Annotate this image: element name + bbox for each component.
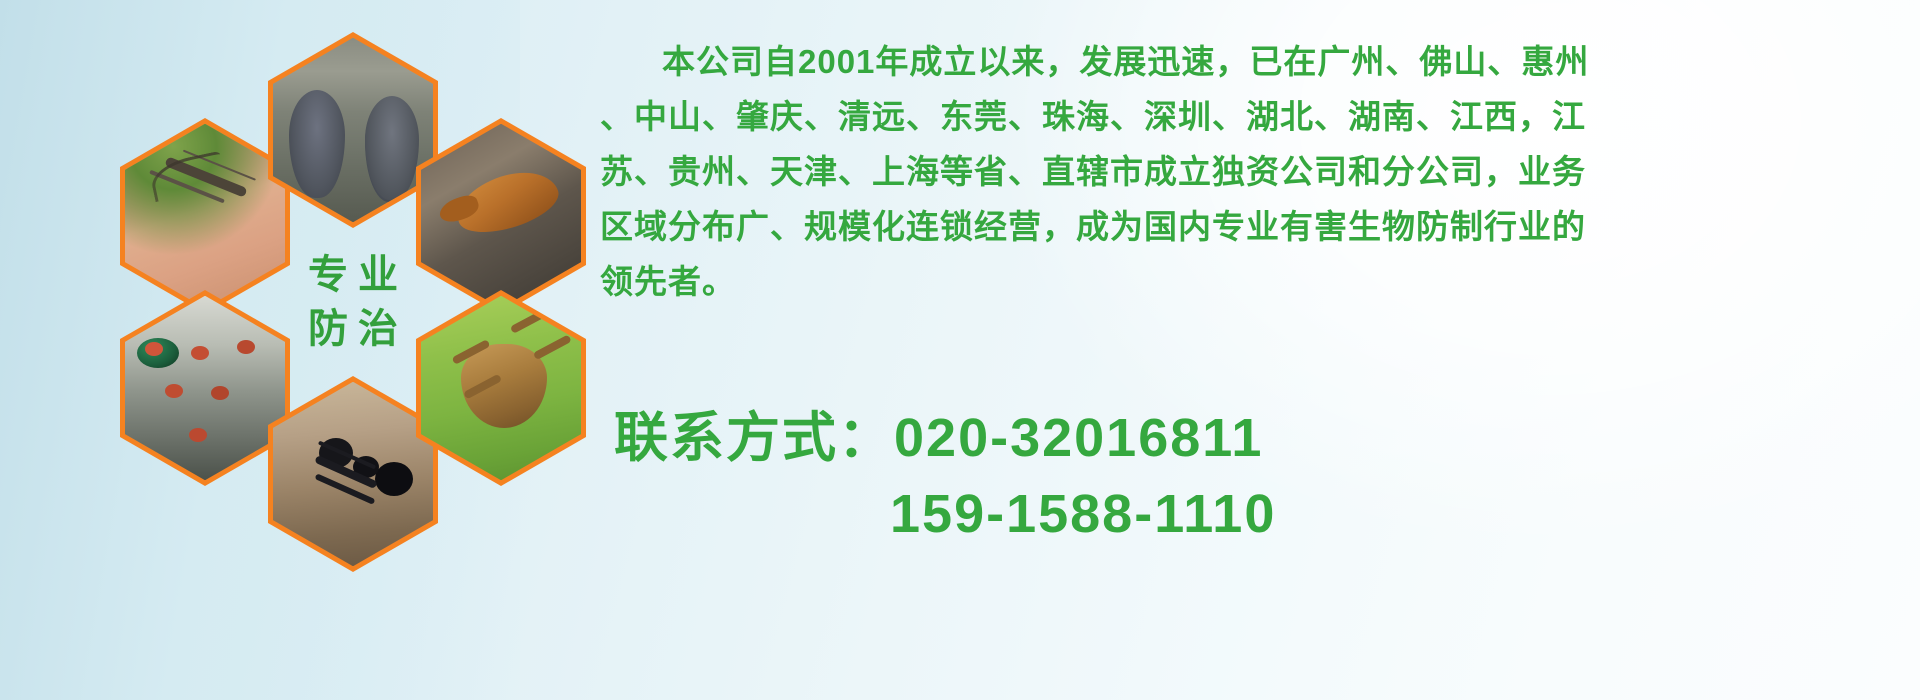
description-line-1: 本公司自2001年成立以来，发展迅速，已在广州、佛山、惠州 — [600, 34, 1900, 89]
hex-cell-stink-bug[interactable] — [416, 290, 586, 486]
hex-inner-mosquito — [125, 124, 285, 309]
honeycomb-gallery: 专业 防治 — [90, 8, 590, 568]
center-label-line1: 专业 — [298, 255, 408, 295]
description-line-2: 、中山、肇庆、清远、东莞、珠海、深圳、湖北、湖南、江西，江 — [600, 89, 1900, 144]
company-description: 本公司自2001年成立以来，发展迅速，已在广州、佛山、惠州 、中山、肇庆、清远、… — [600, 34, 1900, 309]
hex-inner-rat — [273, 38, 433, 223]
promo-banner: 专业 防治 本公司自2001年成立以来，发展迅速，已在广州、佛山、惠州 、中山、… — [0, 0, 1920, 700]
hex-cell-center-label: 专业 防治 — [268, 204, 438, 400]
ant-photo — [273, 382, 433, 567]
center-label-line2: 防治 — [298, 309, 408, 349]
hex-inner-flies — [125, 296, 285, 481]
description-line-5: 领先者。 — [600, 254, 1900, 309]
hex-cell-mosquito[interactable] — [120, 118, 290, 314]
mosquito-photo — [125, 124, 285, 309]
cockroach-photo — [421, 124, 581, 309]
honeycomb-center-text: 专业 防治 — [268, 204, 438, 400]
hex-cell-cockroach[interactable] — [416, 118, 586, 314]
stink-bug-photo — [421, 296, 581, 481]
description-line-4: 区域分布广、规模化连锁经营，成为国内专业有害生物防制行业的 — [600, 199, 1900, 254]
flies-photo — [125, 296, 285, 481]
description-line-3: 苏、贵州、天津、上海等省、直辖市成立独资公司和分公司，业务 — [600, 144, 1900, 199]
rats-photo — [273, 38, 433, 223]
hex-cell-flies[interactable] — [120, 290, 290, 486]
contact-line-primary[interactable]: 联系方式：020-32016811 — [614, 400, 1914, 476]
contact-block: 联系方式：020-32016811 159-1588-1110 — [614, 400, 1914, 552]
hex-cell-rat[interactable] — [268, 32, 438, 228]
hex-cell-ant[interactable] — [268, 376, 438, 572]
hex-inner-ant — [273, 382, 433, 567]
contact-line-secondary[interactable]: 159-1588-1110 — [614, 476, 1914, 552]
hex-inner-stink-bug — [421, 296, 581, 481]
hex-inner-cockroach — [421, 124, 581, 309]
